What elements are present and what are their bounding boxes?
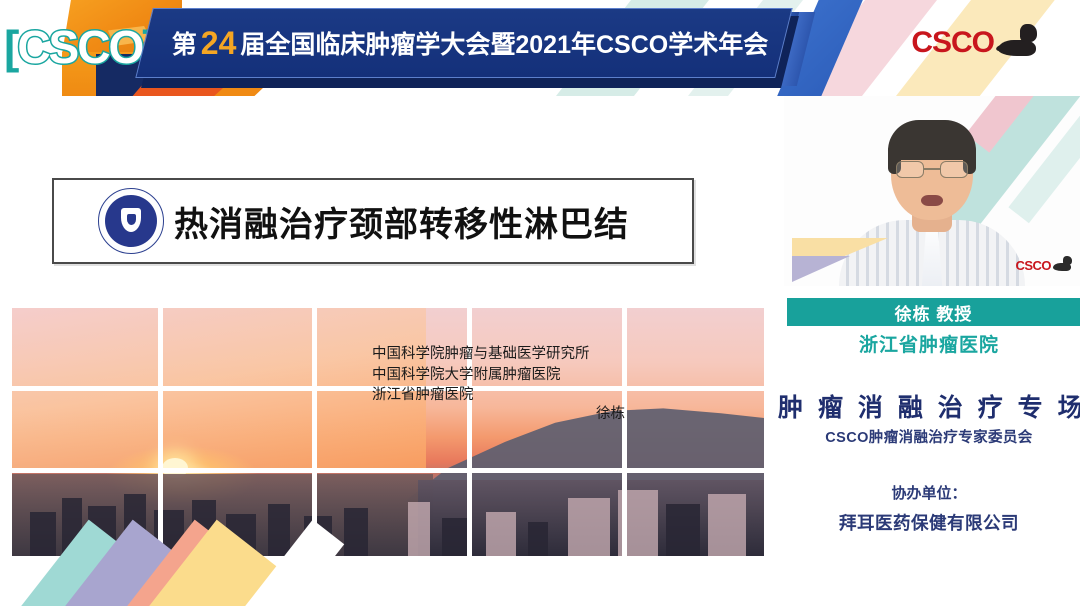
speaker-info-panel: CSCO 徐栋 教授 浙江省肿瘤医院 肿 瘤 消 融 治 疗 专 场 CSCO肿… xyxy=(778,96,1080,606)
csco-wordmark-left: [CSCO] xyxy=(4,24,156,70)
glasses-bridge xyxy=(924,168,940,170)
presentation-slide: 热消融治疗颈部转移性淋巴结 xyxy=(0,96,778,606)
photo-building xyxy=(344,508,368,556)
photo-building xyxy=(268,504,290,556)
csco-watermark: CSCO xyxy=(1015,256,1072,272)
tiger-head xyxy=(1020,24,1037,42)
photo-building xyxy=(442,518,468,556)
sponsor-label: 协办单位： xyxy=(778,482,1080,503)
sponsor-name: 拜耳医药保健有限公司 xyxy=(778,510,1080,535)
affiliation-line: 中国科学院大学附属肿瘤医院 xyxy=(372,365,590,386)
photo-grid-line-h xyxy=(12,468,764,473)
slide-presenter-name: 徐栋 xyxy=(596,402,625,423)
photo-grid-line-v xyxy=(158,308,163,556)
conference-title: 第 24 届全国临床肿瘤学大会暨2021年CSCO学术年会 xyxy=(160,20,780,66)
photo-building xyxy=(666,504,700,556)
speaker-mouth xyxy=(921,195,943,206)
panel-deco-wedge xyxy=(792,238,888,284)
glasses-icon xyxy=(896,161,968,178)
csco-watermark-text: CSCO xyxy=(1015,259,1051,272)
wordmark-text: CSCO xyxy=(17,21,142,73)
affiliation-block: 中国科学院肿瘤与基础医学研究所 中国科学院大学附属肿瘤医院 浙江省肿瘤医院 xyxy=(372,344,590,406)
speaker-hair xyxy=(888,120,976,160)
speaker-name-band: 徐栋 教授 xyxy=(787,298,1080,326)
csco-logo: CSCO xyxy=(911,24,1038,58)
speaker-name: 徐栋 教授 xyxy=(895,300,973,325)
session-committee: CSCO肿瘤消融治疗专家委员会 xyxy=(778,426,1080,447)
broadcast-screen: [CSCO] 第 24 届全国临床肿瘤学大会暨2021年CSCO学术年会 CSC… xyxy=(0,0,1080,606)
university-seal-icon xyxy=(98,188,164,254)
speaker-organization: 浙江省肿瘤医院 xyxy=(778,330,1080,357)
photo-grid-line-v xyxy=(622,308,627,556)
photo-building-lit xyxy=(408,502,430,556)
glasses-lens-left xyxy=(896,161,924,178)
photo-building-lit xyxy=(486,512,516,556)
session-title: 肿 瘤 消 融 治 疗 专 场 xyxy=(778,388,1080,424)
affiliation-line: 浙江省肿瘤医院 xyxy=(372,385,590,406)
slide-title-box: 热消融治疗颈部转移性淋巴结 xyxy=(52,178,694,264)
conference-edition-number: 24 xyxy=(198,25,240,62)
conference-header-banner: [CSCO] 第 24 届全国临床肿瘤学大会暨2021年CSCO学术年会 CSC… xyxy=(0,0,1080,96)
photo-building-lit xyxy=(708,494,746,556)
csco-logo-text: CSCO xyxy=(911,28,994,58)
tiger-mark-icon xyxy=(996,24,1038,58)
wordmark-bracket-left: [ xyxy=(4,21,17,73)
slide-title: 热消融治疗颈部转移性淋巴结 xyxy=(174,197,629,246)
conference-title-suffix: 届全国临床肿瘤学大会暨2021年CSCO学术年会 xyxy=(240,25,768,61)
glasses-lens-right xyxy=(940,161,968,178)
photo-building-lit xyxy=(568,498,610,556)
affiliation-line: 中国科学院肿瘤与基础医学研究所 xyxy=(372,344,590,365)
seal-shield-inner xyxy=(127,214,136,225)
photo-building xyxy=(528,522,548,556)
panel-deco-purple xyxy=(792,256,850,282)
tiger-mark-icon-small xyxy=(1052,256,1072,272)
conference-title-prefix: 第 xyxy=(172,25,197,61)
photo-building xyxy=(30,512,56,556)
tiger-head-small xyxy=(1063,256,1072,265)
tiger-body xyxy=(998,40,1036,56)
